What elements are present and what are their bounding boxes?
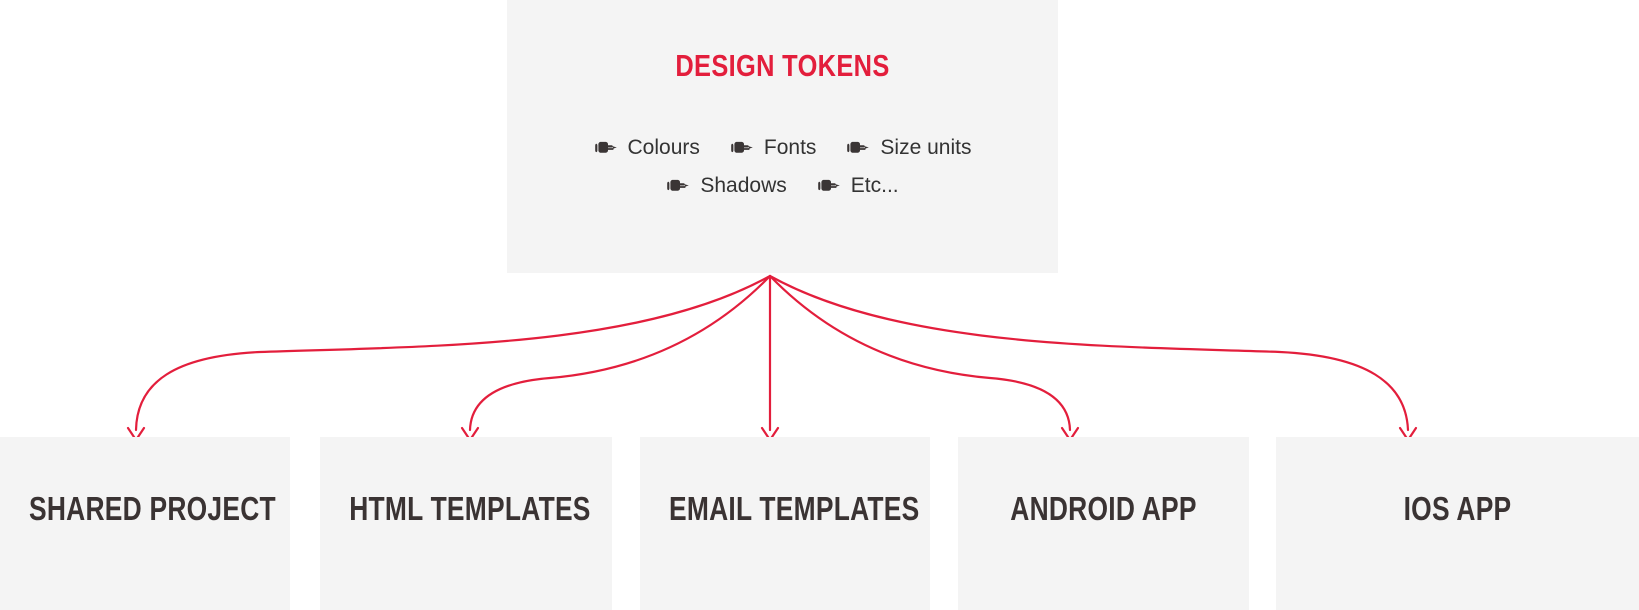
list-item-label: Etc... xyxy=(851,174,899,198)
pointing-hand-icon xyxy=(817,176,841,196)
connector-path-4 xyxy=(770,276,1070,430)
target-box-label: SHARED PROJECT xyxy=(29,492,261,525)
token-row: Shadows Etc... xyxy=(507,174,1058,198)
token-list: Colours Fonts xyxy=(507,136,1058,212)
target-box-label: HTML TEMPLATES xyxy=(349,492,583,525)
target-box-label: IOS APP xyxy=(1312,492,1602,525)
target-box-shared-project[interactable]: SHARED PROJECT xyxy=(0,437,290,610)
list-item: Size units xyxy=(846,136,971,160)
target-box-label: ANDROID APP xyxy=(987,492,1220,525)
list-item-label: Colours xyxy=(628,136,700,160)
list-item: Colours xyxy=(594,136,700,160)
diagram-canvas: DESIGN TOKENS Colours xyxy=(0,0,1639,610)
connector-path-2 xyxy=(470,276,770,430)
list-item: Shadows xyxy=(666,174,786,198)
connector-path-5 xyxy=(770,276,1408,430)
pointing-hand-icon xyxy=(666,176,690,196)
list-item-label: Shadows xyxy=(700,174,786,198)
page-title: DESIGN TOKENS xyxy=(557,50,1009,81)
list-item-label: Fonts xyxy=(764,136,817,160)
target-box-label: EMAIL TEMPLATES xyxy=(669,492,901,525)
target-box-email-templates[interactable]: EMAIL TEMPLATES xyxy=(640,437,930,610)
token-row: Colours Fonts xyxy=(507,136,1058,160)
connector-path-1 xyxy=(136,276,770,430)
list-item: Fonts xyxy=(730,136,817,160)
design-tokens-panel: DESIGN TOKENS Colours xyxy=(507,0,1058,273)
target-box-ios-app[interactable]: IOS APP xyxy=(1276,437,1639,610)
list-item: Etc... xyxy=(817,174,899,198)
pointing-hand-icon xyxy=(846,138,870,158)
pointing-hand-icon xyxy=(730,138,754,158)
pointing-hand-icon xyxy=(594,138,618,158)
target-box-android-app[interactable]: ANDROID APP xyxy=(958,437,1249,610)
target-box-html-templates[interactable]: HTML TEMPLATES xyxy=(320,437,612,610)
list-item-label: Size units xyxy=(880,136,971,160)
